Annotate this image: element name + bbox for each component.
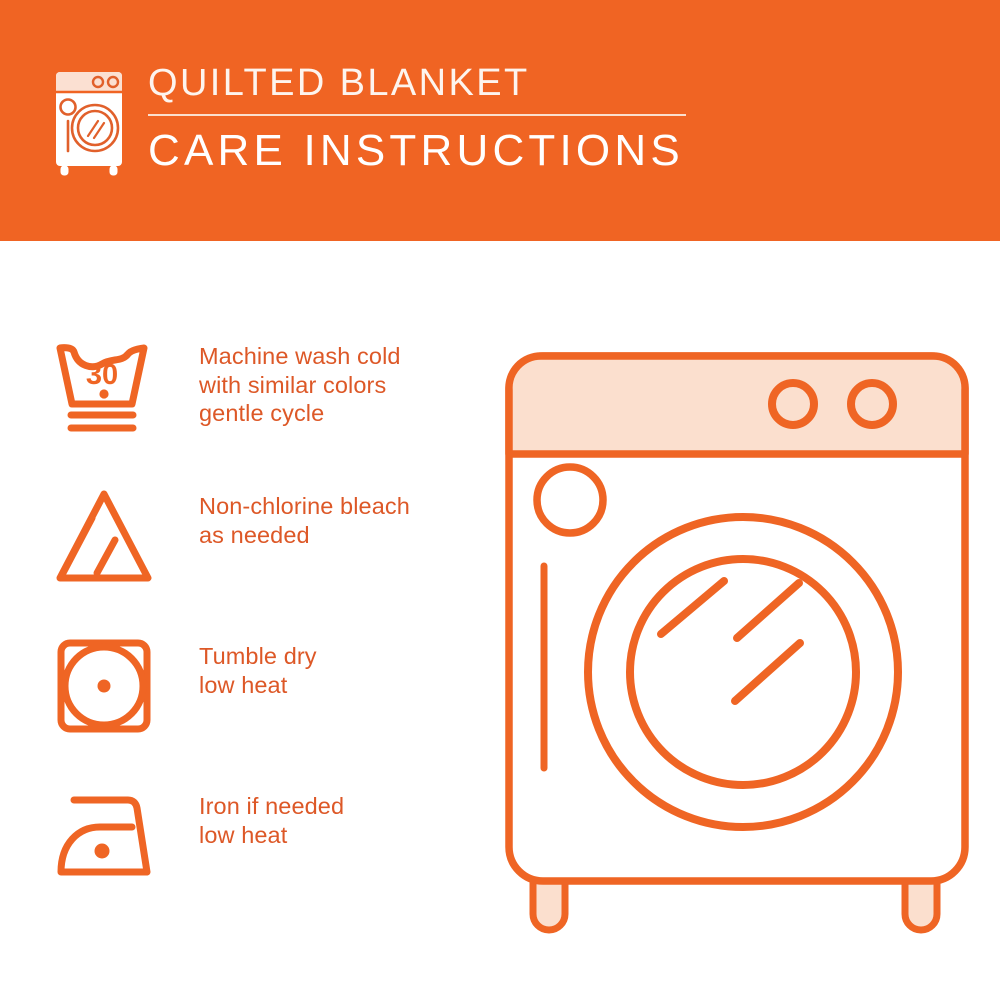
- title-divider: [148, 114, 686, 116]
- care-item-tumble-dry-label: Tumble dry low heat: [199, 636, 317, 699]
- care-item-machine-wash-label: Machine wash cold with similar colors ge…: [199, 336, 401, 428]
- front-load-washing-machine-illustration: [487, 336, 987, 961]
- care-item-iron-label: Iron if needed low heat: [199, 786, 344, 849]
- care-text-line: with similar colors: [199, 371, 401, 400]
- care-item-bleach: Non-chlorine bleach as needed: [52, 486, 472, 636]
- care-text-line: Tumble dry: [199, 642, 317, 671]
- title-care-instructions: CARE INSTRUCTIONS: [148, 129, 686, 173]
- care-instruction-list: 30 Machine wash cold with similar colors…: [52, 336, 472, 936]
- care-text-line: gentle cycle: [199, 399, 401, 428]
- washing-machine-icon: [44, 66, 130, 178]
- title-product-name: QUILTED BLANKET: [148, 64, 686, 114]
- care-text-line: as needed: [199, 521, 410, 550]
- header-banner: QUILTED BLANKET CARE INSTRUCTIONS: [0, 0, 1000, 241]
- main-content: 30 Machine wash cold with similar colors…: [0, 241, 1000, 1000]
- care-item-machine-wash: 30 Machine wash cold with similar colors…: [52, 336, 472, 486]
- wash-temperature-value: 30: [86, 359, 118, 391]
- care-text-line: Non-chlorine bleach: [199, 492, 410, 521]
- care-text-line: low heat: [199, 671, 317, 700]
- care-text-line: low heat: [199, 821, 344, 850]
- tumble-dry-low-heat-icon: [52, 636, 164, 736]
- care-item-bleach-label: Non-chlorine bleach as needed: [199, 486, 410, 549]
- care-text-line: Machine wash cold: [199, 342, 401, 371]
- iron-low-heat-icon: [52, 786, 164, 886]
- care-item-tumble-dry: Tumble dry low heat: [52, 636, 472, 786]
- wash-tub-30-gentle-icon: 30: [52, 336, 164, 436]
- page-title: QUILTED BLANKET CARE INSTRUCTIONS: [148, 62, 686, 173]
- bleach-triangle-non-chlorine-icon: [52, 486, 164, 586]
- care-text-line: Iron if needed: [199, 792, 344, 821]
- header-content: QUILTED BLANKET CARE INSTRUCTIONS: [44, 62, 686, 178]
- care-item-iron: Iron if needed low heat: [52, 786, 472, 936]
